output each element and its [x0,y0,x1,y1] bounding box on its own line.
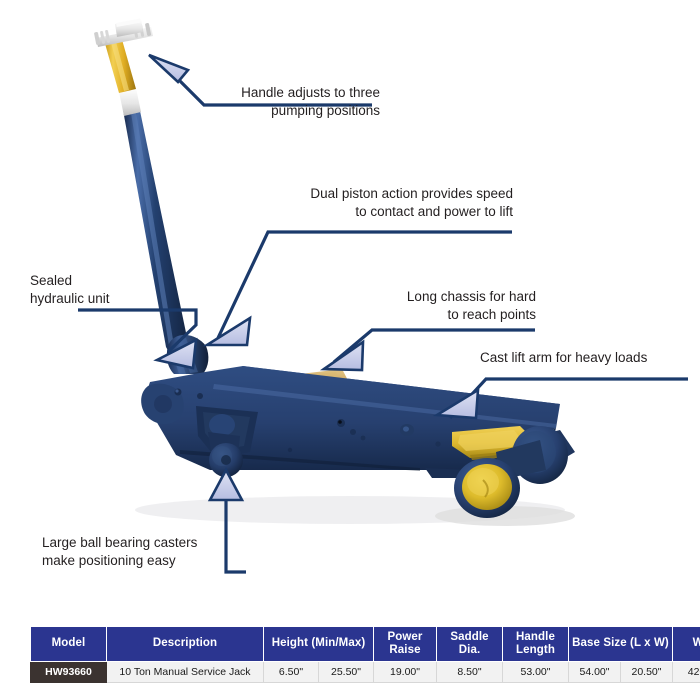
header-weight: Weight [673,627,700,662]
cell-height-min: 6.50" [264,661,319,682]
cell-base-length: 54.00" [569,661,621,682]
callout-ball-bearing-casters: Large ball bearing casters make position… [42,534,242,570]
cell-saddle-dia: 8.50" [437,661,503,682]
cell-height-max: 25.50" [319,661,374,682]
callout-cast-lift-arm: Cast lift arm for heavy loads [480,349,685,367]
jack-illustration: Handle adjusts to three pumping position… [0,0,700,610]
header-base-size: Base Size (L x W) [569,627,673,662]
header-handle-length: Handle Length [503,627,569,662]
handle-crossbar [94,19,153,48]
table-header-row: Model Description Height (Min/Max) Power… [31,627,700,662]
callout-dual-piston: Dual piston action provides speed to con… [258,185,513,221]
arrow-casters [210,470,242,500]
cell-power-raise: 19.00" [374,661,437,682]
cell-weight: 420.00 lbs [673,661,700,682]
callout-sealed-hydraulic-unit: Sealed hydraulic unit [30,272,170,308]
cell-model: HW93660 [31,661,107,682]
product-diagram-page: Handle adjusts to three pumping position… [0,0,700,700]
specification-table: Model Description Height (Min/Max) Power… [30,626,700,683]
cell-description: 10 Ton Manual Service Jack [107,661,264,682]
arrow-piston [207,318,250,345]
arrow-chassis [324,342,363,370]
callout-long-chassis: Long chassis for hard to reach points [368,288,536,324]
table-row: HW93660 10 Ton Manual Service Jack 6.50"… [31,661,700,682]
header-power-raise: Power Raise [374,627,437,662]
cell-base-width: 20.50" [621,661,673,682]
header-description: Description [107,627,264,662]
header-model: Model [31,627,107,662]
specification-table-wrapper: Model Description Height (Min/Max) Power… [30,626,671,683]
cell-handle-length: 53.00" [503,661,569,682]
header-height: Height (Min/Max) [264,627,374,662]
header-saddle-dia: Saddle Dia. [437,627,503,662]
callout-handle: Handle adjusts to three pumping position… [205,84,380,120]
arrow-handle [149,55,188,82]
